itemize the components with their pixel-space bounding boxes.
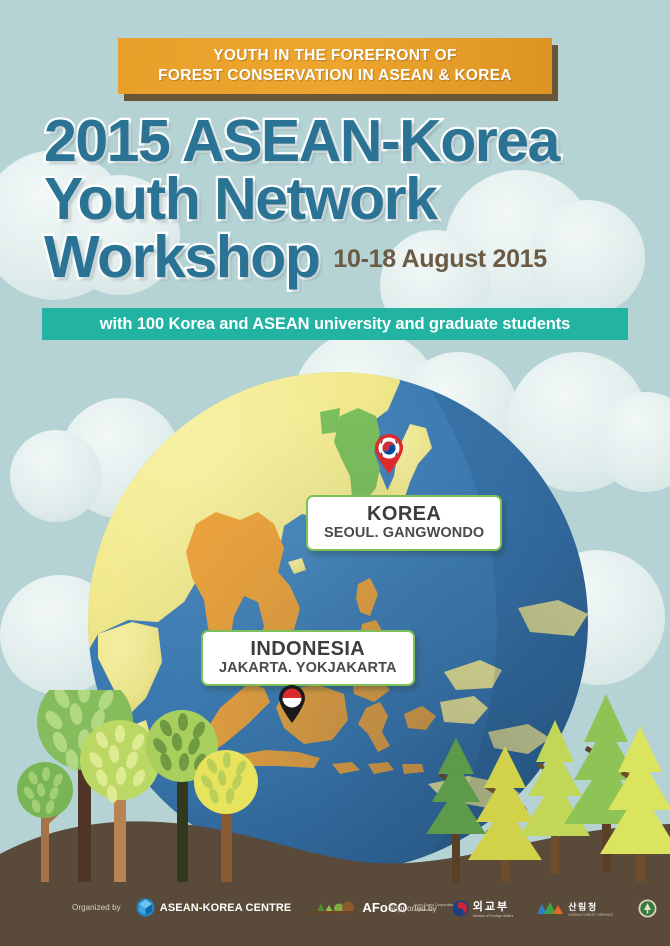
header-line-1: YOUTH IN THE FOREFRONT OF — [213, 46, 456, 66]
kfs-korean-text: 산림청 — [568, 900, 597, 913]
korea-forest-service-logo[interactable]: 산림청 KOREA FOREST SERVICE — [536, 900, 613, 917]
tree-conifer — [468, 746, 542, 882]
map-label-indonesia: INDONESIA JAKARTA. YOKJAKARTA — [201, 630, 415, 686]
mofa-korean-text: 외교부 — [473, 898, 509, 914]
title-line-2: Youth Network — [44, 170, 559, 228]
title-line-1: 2015 ASEAN-Korea — [44, 112, 559, 170]
map-pin-icon — [373, 433, 405, 475]
map-label-korea-country: KOREA — [324, 503, 484, 525]
title-line-3: Workshop — [44, 228, 319, 286]
title-row-three: Workshop 10-18 August 2015 — [44, 228, 559, 286]
poster-root: YOUTH IN THE FOREFRONT OF FOREST CONSERV… — [0, 0, 670, 946]
conifer-tree-group — [418, 690, 670, 890]
organized-by-label: Organized by — [72, 903, 121, 912]
supporter-logo-3[interactable] — [638, 899, 657, 918]
map-label-korea: KOREA SEOUL. GANGWONDO — [306, 495, 502, 551]
supported-by-label: Supported by — [388, 904, 437, 913]
map-label-indonesia-cities: JAKARTA. YOKJAKARTA — [219, 660, 397, 677]
asean-korea-centre-globe-icon — [136, 898, 155, 917]
subtitle-text: with 100 Korea and ASEAN university and … — [100, 315, 570, 334]
page-title: 2015 ASEAN-Korea Youth Network Workshop … — [44, 112, 559, 286]
tree-conifer — [426, 738, 486, 882]
deciduous-tree-group — [0, 690, 260, 890]
supported-by-group: Supported by 외교부 Ministry of Foreign Aff… — [388, 898, 670, 918]
map-pin-icon — [277, 684, 307, 724]
map-label-indonesia-country: INDONESIA — [219, 638, 397, 660]
tree-deciduous — [17, 762, 73, 882]
indonesia-flag-pin — [277, 684, 307, 729]
supporter-emblem-3-icon — [638, 899, 657, 918]
mofa-english-text: Ministry of Foreign Affairs — [473, 914, 513, 918]
footer-logos: Organized by ASEAN-KOREA CENTRE — [0, 886, 670, 946]
korea-flag-pin — [373, 433, 405, 480]
map-label-korea-cities: SEOUL. GANGWONDO — [324, 525, 484, 542]
kfs-mountain-icon — [536, 900, 564, 916]
asean-korea-centre-text: ASEAN-KOREA CENTRE — [160, 902, 292, 914]
asean-korea-centre-logo[interactable]: ASEAN-KOREA CENTRE — [136, 898, 292, 917]
header-line-2: FOREST CONSERVATION IN ASEAN & KOREA — [158, 66, 512, 86]
header-banner: YOUTH IN THE FOREFRONT OF FOREST CONSERV… — [118, 38, 552, 94]
subtitle-bar: with 100 Korea and ASEAN university and … — [42, 308, 628, 340]
tree-deciduous — [194, 750, 258, 882]
afoco-trees-icon — [312, 900, 358, 916]
mofa-korea-logo[interactable]: 외교부 Ministry of Foreign Affairs — [452, 898, 513, 918]
kfs-english-text: KOREA FOREST SERVICE — [568, 913, 613, 917]
mofa-emblem-icon — [452, 900, 469, 917]
event-date: 10-18 August 2015 — [333, 245, 547, 286]
